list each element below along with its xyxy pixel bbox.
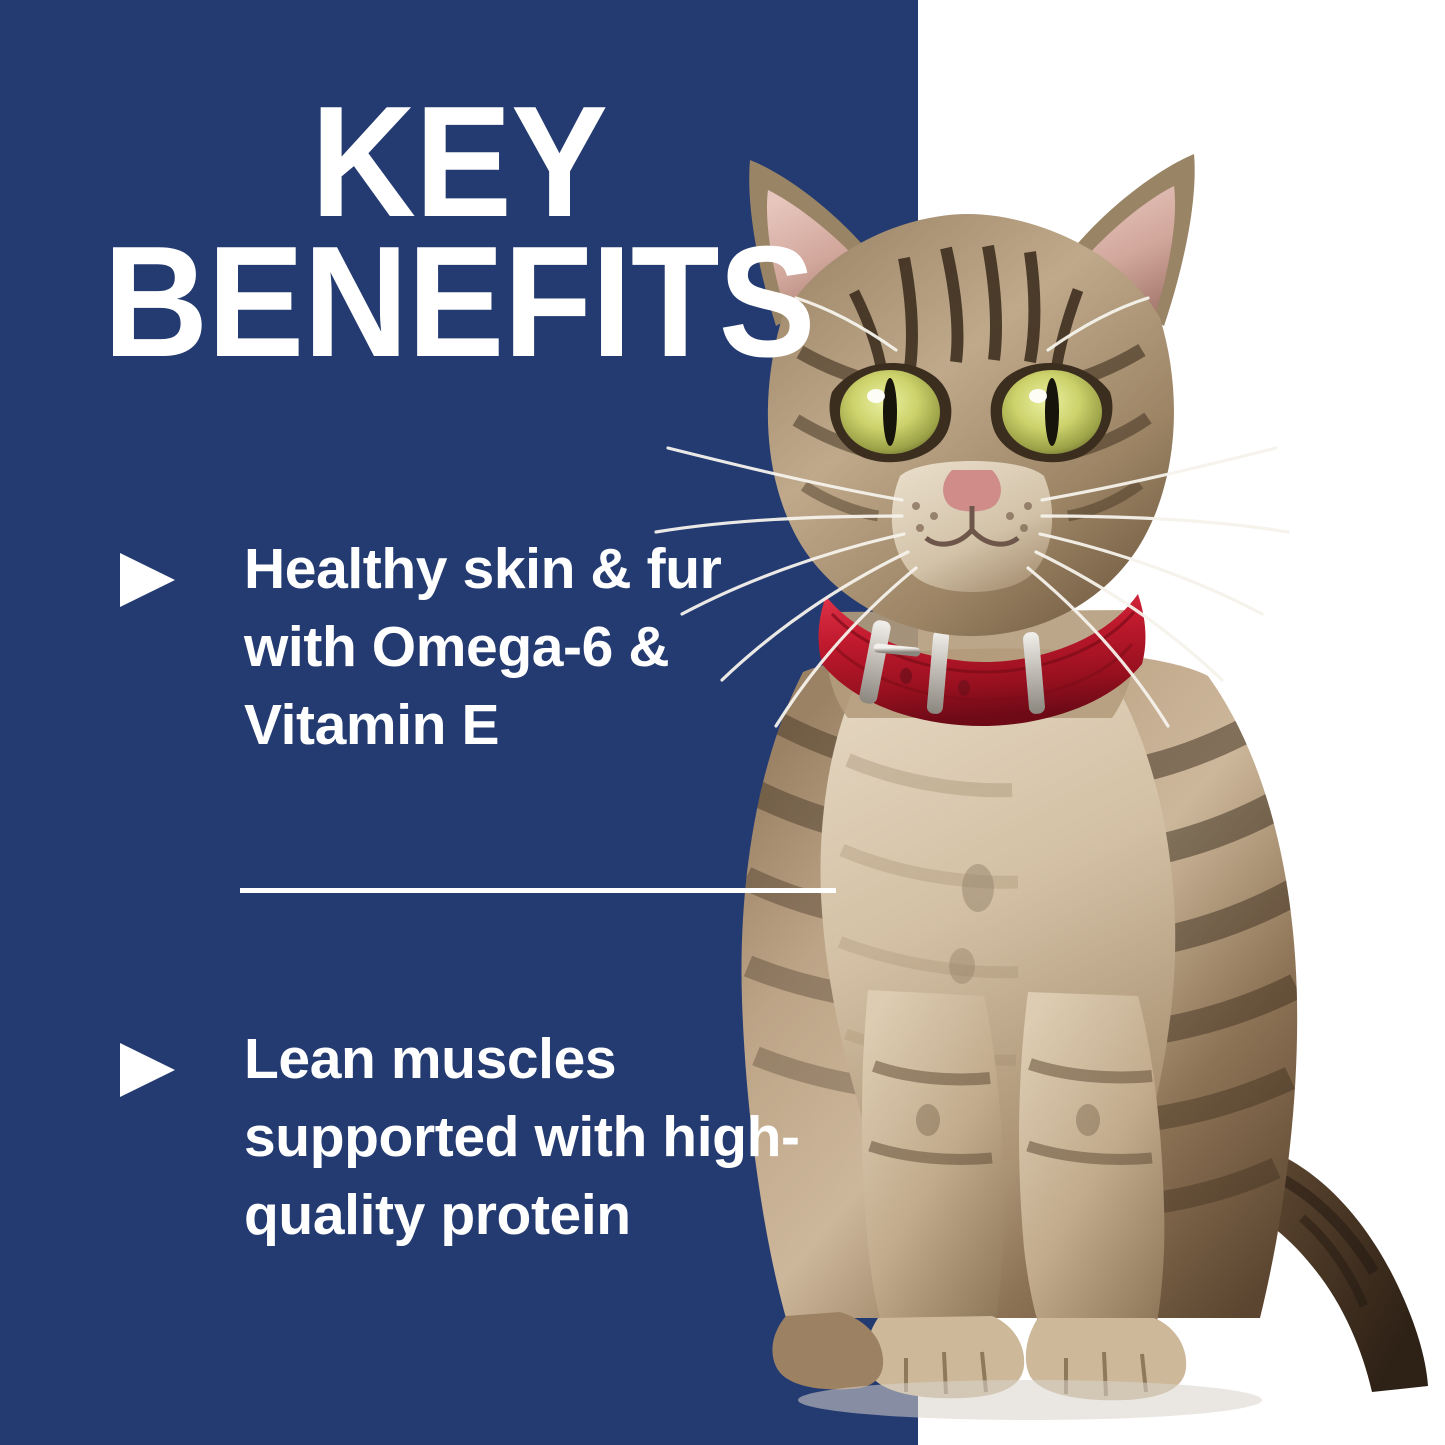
benefit-item-1: Healthy skin & fur with Omega-6 & Vitami… [0,530,918,764]
cat-shadow [798,1380,1262,1420]
benefits-divider [240,888,836,893]
benefit-item-1-label: Healthy skin & fur with Omega-6 & Vitami… [244,530,844,764]
cat-front-leg-right [1019,992,1164,1354]
cat-eye-left [830,363,952,462]
triangle-right-icon [118,1042,176,1098]
key-benefits-list: Healthy skin & fur with Omega-6 & Vitami… [0,530,918,1254]
benefits-divider-wrap [0,764,918,1020]
cat-eye-right [991,363,1113,462]
cat-rear-foot [772,1312,883,1389]
benefit-item-2: Lean muscles supported with high-quality… [0,1020,918,1254]
page-title-line-2: BENEFITS [37,232,882,372]
benefit-item-2-label: Lean muscles supported with high-quality… [244,1020,844,1254]
page-title: KEY BENEFITS [37,92,882,372]
triangle-right-icon [118,552,176,608]
page-title-line-1: KEY [37,92,882,232]
key-benefits-poster: KEY BENEFITS Healthy skin & fur with Ome… [0,0,1445,1445]
cat-nose [943,470,1001,512]
